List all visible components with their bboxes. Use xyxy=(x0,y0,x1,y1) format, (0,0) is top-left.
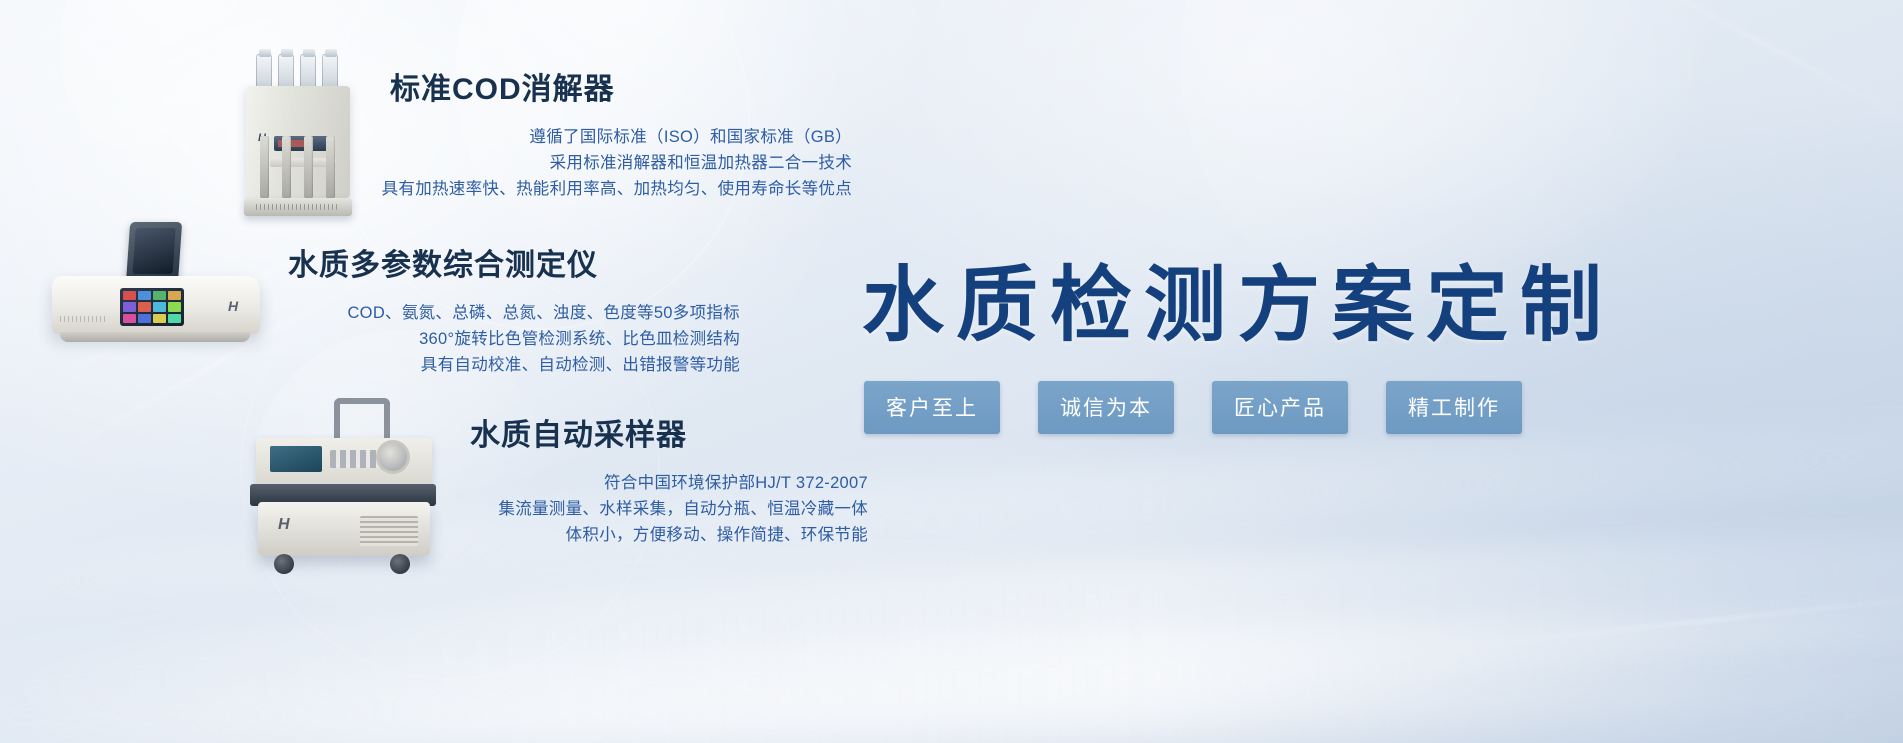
product-feature-list: 遵循了国际标准（ISO）和国家标准（GB） 采用标准消解器和恒温加热器二合一技术… xyxy=(0,124,852,202)
product-title: 标准COD消解器 xyxy=(390,64,880,108)
product-feature-line: 体积小，方便移动、操作简捷、环保节能 xyxy=(0,522,868,548)
promotional-banner: H H xyxy=(0,0,1903,743)
product-feature-list: 符合中国环境保护部HJ/T 372-2007 集流量测量、水样采集，自动分瓶、恒… xyxy=(0,470,868,548)
product-title: 水质自动采样器 xyxy=(470,410,880,454)
product-list: 标准COD消解器 遵循了国际标准（ISO）和国家标准（GB） 采用标准消解器和恒… xyxy=(0,0,900,743)
slogan-pill-craftsmanship[interactable]: 匠心产品 xyxy=(1212,381,1348,434)
slogan-pill-customer-first[interactable]: 客户至上 xyxy=(864,381,1000,434)
product-feature-list: COD、氨氮、总磷、总氮、浊度、色度等50多项指标 360°旋转比色管检测系统、… xyxy=(0,300,740,378)
product-feature-line: COD、氨氮、总磷、总氮、浊度、色度等50多项指标 xyxy=(0,300,740,326)
banner-headline: 水质检测方案定制 xyxy=(862,238,1872,357)
product-feature-line: 集流量测量、水样采集，自动分瓶、恒温冷藏一体 xyxy=(0,496,868,522)
light-streak xyxy=(1530,0,1903,165)
product-feature-line: 符合中国环境保护部HJ/T 372-2007 xyxy=(0,470,868,496)
slogan-pill-group: 客户至上 诚信为本 匠心产品 精工制作 xyxy=(864,381,1522,434)
product-feature-line: 具有加热速率快、热能利用率高、加热均匀、使用寿命长等优点 xyxy=(0,176,852,202)
product-block-cod-digester: 标准COD消解器 遵循了国际标准（ISO）和国家标准（GB） 采用标准消解器和恒… xyxy=(0,64,880,202)
product-feature-line: 360°旋转比色管检测系统、比色皿检测结构 xyxy=(0,326,740,352)
slogan-pill-integrity[interactable]: 诚信为本 xyxy=(1038,381,1174,434)
product-block-auto-water-sampler: 水质自动采样器 符合中国环境保护部HJ/T 372-2007 集流量测量、水样采… xyxy=(0,410,880,548)
product-feature-line: 采用标准消解器和恒温加热器二合一技术 xyxy=(0,150,852,176)
product-feature-line: 具有自动校准、自动检测、出错报警等功能 xyxy=(0,352,740,378)
light-streak xyxy=(1382,587,1903,657)
product-block-multiparameter-analyzer: 水质多参数综合测定仪 COD、氨氮、总磷、总氮、浊度、色度等50多项指标 360… xyxy=(0,240,760,378)
product-feature-line: 遵循了国际标准（ISO）和国家标准（GB） xyxy=(0,124,852,150)
slogan-pill-fine-manufacturing[interactable]: 精工制作 xyxy=(1386,381,1522,434)
product-title: 水质多参数综合测定仪 xyxy=(288,240,760,284)
